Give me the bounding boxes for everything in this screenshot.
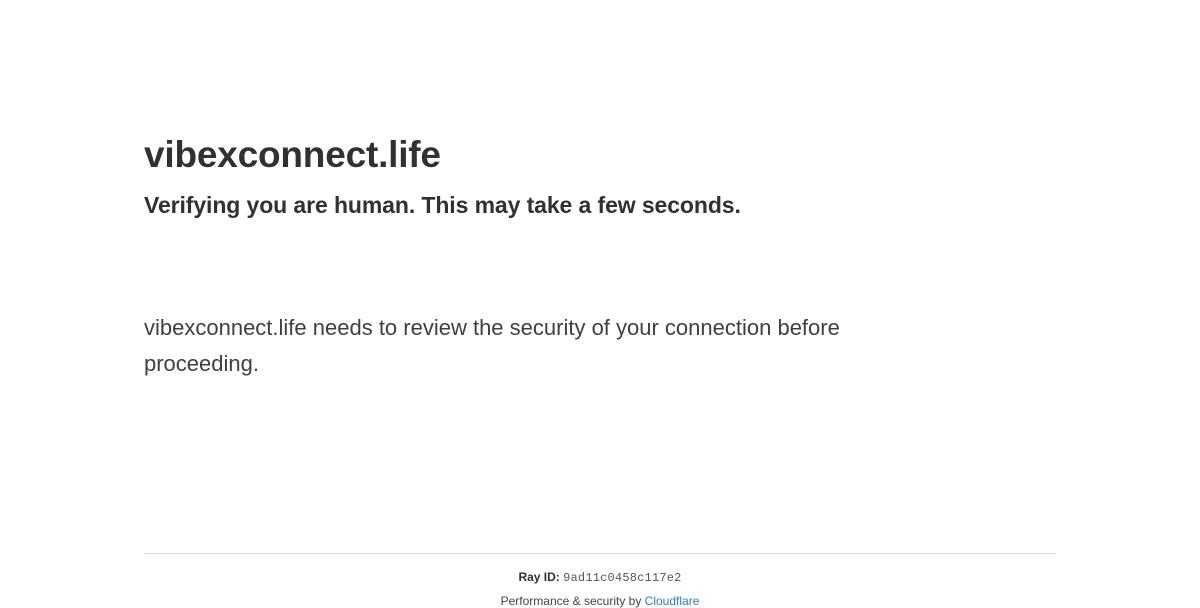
verification-status-text: Verifying you are human. This may take a… bbox=[144, 178, 1056, 220]
challenge-page: vibexconnect.life Verifying you are huma… bbox=[0, 0, 1200, 600]
challenge-content: vibexconnect.life Verifying you are huma… bbox=[144, 0, 1056, 382]
ray-id-value: 9ad11c0458c117e2 bbox=[563, 571, 681, 585]
ray-id-label: Ray ID: bbox=[518, 570, 559, 584]
page-title: vibexconnect.life bbox=[144, 0, 1056, 178]
security-review-message: vibexconnect.life needs to review the se… bbox=[144, 310, 944, 382]
turnstile-widget-container[interactable] bbox=[144, 220, 1056, 310]
cloudflare-link[interactable]: Cloudflare bbox=[645, 594, 700, 608]
attribution-prefix: Performance & security by bbox=[501, 594, 645, 608]
attribution-line: Performance & security by Cloudflare bbox=[144, 585, 1056, 608]
ray-id-line: Ray ID: 9ad11c0458c117e2 bbox=[144, 554, 1056, 585]
